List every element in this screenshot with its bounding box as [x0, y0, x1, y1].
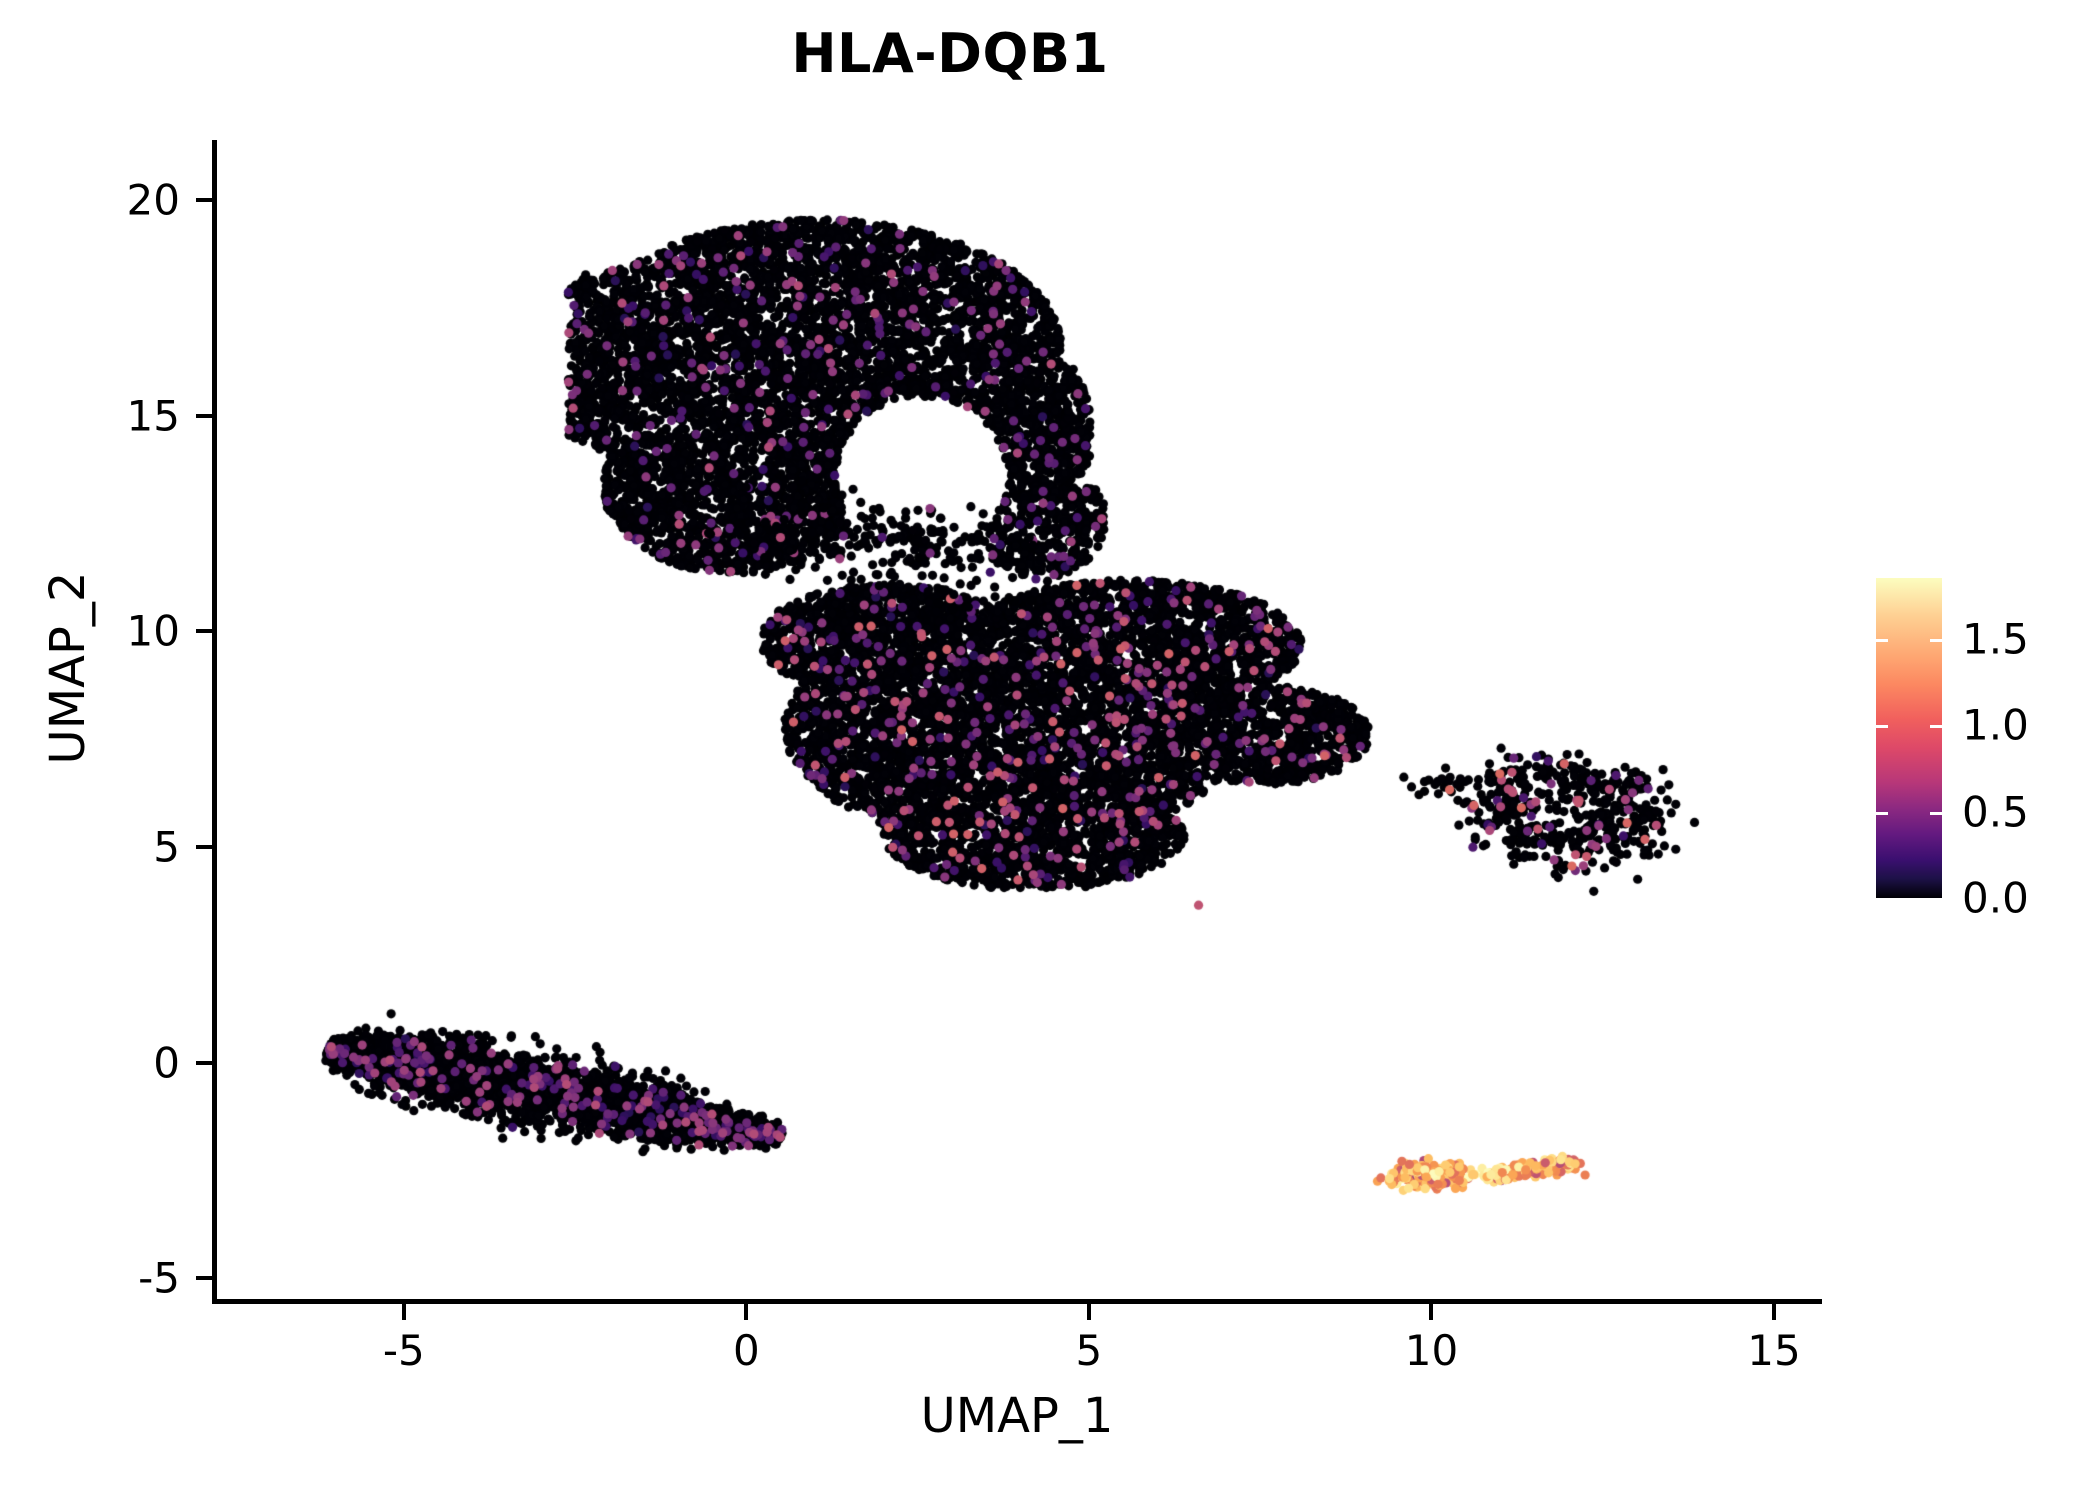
y-tick-label: 20 [127, 176, 180, 225]
y-tick-label: 5 [153, 823, 180, 872]
colorbar-gradient [1876, 578, 1942, 898]
colorbar-tick-label: 0.5 [1962, 787, 2029, 836]
colorbar: 1.51.00.50.0 [1876, 578, 1942, 898]
colorbar-tick-mark [1930, 639, 1942, 642]
y-tick-label: 0 [153, 1038, 180, 1087]
colorbar-tick-label: 1.0 [1962, 701, 2029, 750]
x-axis-label: UMAP_1 [212, 1388, 1822, 1444]
colorbar-tick-mark [1876, 812, 1888, 815]
x-tick-mark [1087, 1304, 1091, 1320]
colorbar-tick-mark [1876, 639, 1888, 642]
y-tick-label: 10 [127, 607, 180, 656]
colorbar-tick-mark [1876, 725, 1888, 728]
y-tick-mark [196, 1276, 212, 1280]
colorbar-tick-label: 0.0 [1962, 874, 2029, 923]
x-tick-label: 15 [1747, 1326, 1800, 1375]
figure-canvas: HLA-DQB1 -5051015 20151050-5 UMAP_1 UMAP… [0, 0, 2100, 1500]
y-tick-mark [196, 845, 212, 849]
x-tick-mark [402, 1304, 406, 1320]
colorbar-tick-mark [1930, 725, 1942, 728]
y-tick-label: -5 [138, 1254, 180, 1303]
scatter-plot-points [212, 140, 1822, 1304]
x-tick-label: 5 [1076, 1326, 1103, 1375]
y-tick-mark [196, 1061, 212, 1065]
x-tick-mark [1772, 1304, 1776, 1320]
y-tick-label: 15 [127, 391, 180, 440]
colorbar-tick-label: 1.5 [1962, 614, 2029, 663]
y-axis-label: UMAP_2 [40, 318, 96, 1018]
colorbar-tick-mark [1930, 812, 1942, 815]
y-axis-spine [212, 140, 217, 1304]
x-tick-label: 10 [1405, 1326, 1458, 1375]
x-axis-spine [212, 1299, 1822, 1304]
x-tick-label: -5 [383, 1326, 425, 1375]
x-tick-mark [1429, 1304, 1433, 1320]
y-tick-mark [196, 198, 212, 202]
x-tick-label: 0 [733, 1326, 760, 1375]
plot-axes: -5051015 20151050-5 [212, 140, 1822, 1304]
y-tick-mark [196, 414, 212, 418]
y-tick-mark [196, 629, 212, 633]
page-title: HLA-DQB1 [0, 22, 1900, 85]
x-tick-mark [744, 1304, 748, 1320]
